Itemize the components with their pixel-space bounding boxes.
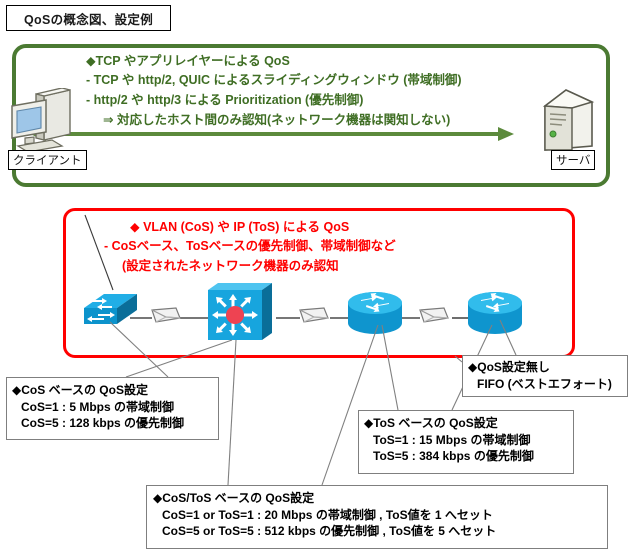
callout-cos-line-1: ◆CoS ベースの QoS設定 [12,382,213,399]
callout-tos-line-3: ToS=5 : 384 kbps の優先制御 [364,448,568,465]
router-icon [468,292,522,334]
callout-cos-tos-based-qos: ◆CoS/ToS ベースの QoS設定 CoS=1 or ToS=1 : 20 … [146,485,608,549]
callout-costos-line-3: CoS=5 or ToS=5 : 512 kbps の優先制御 , ToS値を … [153,523,601,540]
callout-no-qos-fifo: ◆QoS設定無し FIFO (ベストエフォート) [462,355,628,397]
callout-cos-line-2: CoS=1 : 5 Mbps の帯域制御 [12,399,213,416]
endpoint-icons [0,88,629,168]
packet-icon [300,308,328,322]
red-line-2: - CoSベース、ToSベースの優先制御、帯域制御など [104,235,396,254]
packet-icon [420,308,448,322]
page-title: QoSの概念図、設定例 [6,5,171,31]
callout-tos-line-1: ◆ToS ベースの QoS設定 [364,415,568,432]
router-icon [348,292,402,334]
multilayer-switch-icon [208,283,272,340]
network-device-row [0,270,629,365]
server-label: サーバ [551,150,595,170]
callout-fifo-line-1: ◆QoS設定無し [468,359,622,376]
red-line-1: ◆ VLAN (CoS) や IP (ToS) による QoS [130,216,349,235]
server-tower-icon [545,90,592,150]
packet-icon [152,308,180,322]
client-label: クライアント [8,150,87,170]
callout-tos-line-2: ToS=1 : 15 Mbps の帯域制御 [364,432,568,449]
callout-tos-based-qos: ◆ToS ベースの QoS設定 ToS=1 : 15 Mbps の帯域制御 To… [358,410,574,474]
callout-costos-line-1: ◆CoS/ToS ベースの QoS設定 [153,490,601,507]
green-line-2: - TCP や http/2, QUIC によるスライディングウィンドウ (帯域… [86,69,462,88]
green-line-1: ◆TCP やアプリレイヤーによる QoS [86,50,290,69]
switch-icon [84,294,137,324]
page-title-text: QoSの概念図、設定例 [24,9,153,28]
callout-cos-line-3: CoS=5 : 128 kbps の優先制御 [12,415,213,432]
callout-costos-line-2: CoS=1 or ToS=1 : 20 Mbps の帯域制御 , ToS値を 1… [153,507,601,524]
callout-fifo-line-2: FIFO (ベストエフォート) [468,376,622,393]
desktop-pc-icon [12,88,70,152]
callout-cos-based-qos: ◆CoS ベースの QoS設定 CoS=1 : 5 Mbps の帯域制御 CoS… [6,377,219,440]
